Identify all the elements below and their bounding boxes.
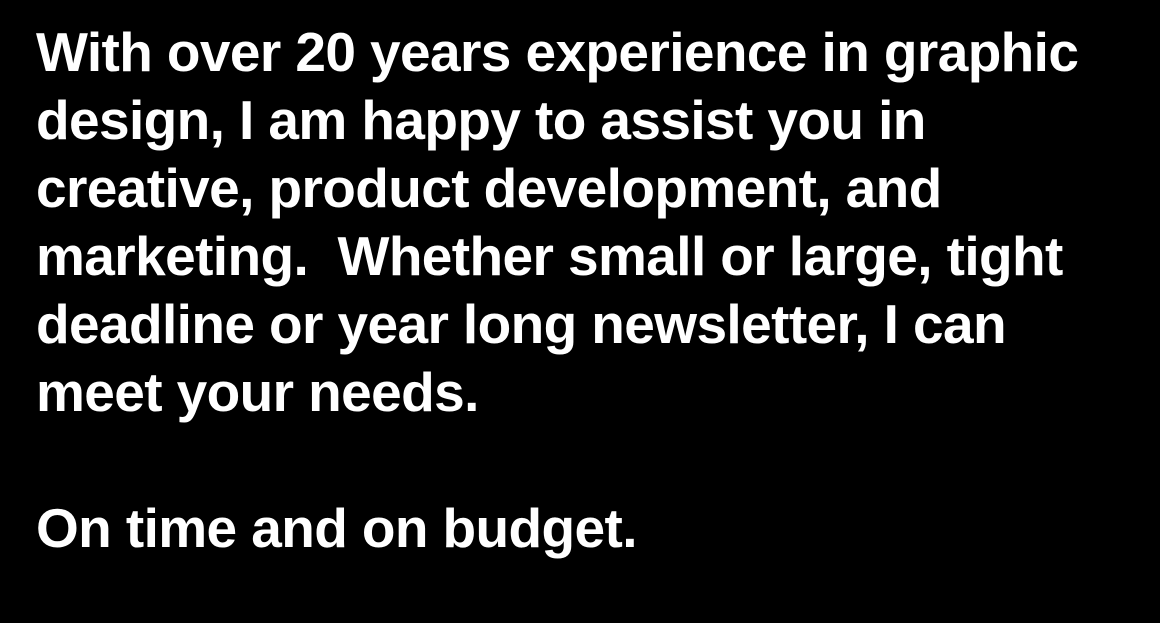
- paragraph-experience: With over 20 years experience in graphic…: [36, 18, 1146, 426]
- slide-text-block: With over 20 years experience in graphic…: [36, 18, 1146, 562]
- paragraph-on-time-on-budget: On time and on budget.: [36, 494, 1146, 562]
- paragraph-gap: [36, 426, 1146, 494]
- slide-canvas: With over 20 years experience in graphic…: [0, 0, 1160, 623]
